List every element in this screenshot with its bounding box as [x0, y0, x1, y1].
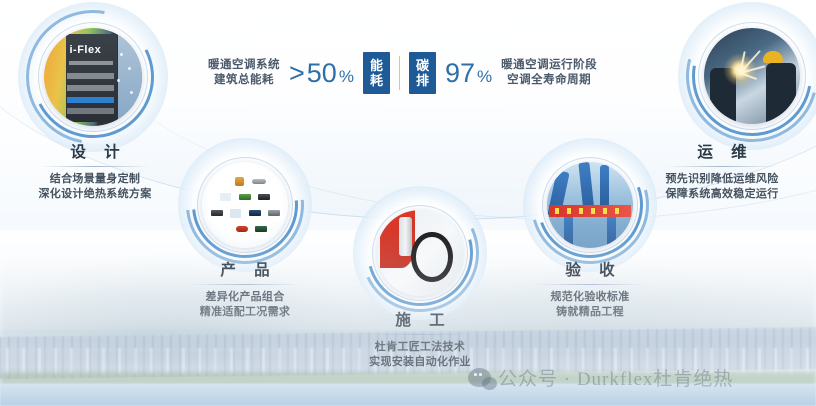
acceptance-desc-line1: 规范化验收标准 [500, 290, 680, 305]
wechat-icon [468, 368, 491, 387]
badge-carbon-char2: 排 [416, 73, 429, 88]
design-title: 设 计 [0, 140, 195, 162]
product-rule [190, 284, 300, 285]
design-desc-line1: 结合场景量身定制 [0, 172, 195, 187]
stat-right-label-line2: 空调全寿命周期 [501, 73, 597, 88]
design-desc-line2: 深化设计绝热系统方案 [0, 187, 195, 202]
operations-photo [704, 28, 800, 124]
stat-left-operator: > [289, 58, 305, 89]
product-photo [202, 162, 288, 248]
operations-title: 运 维 [622, 140, 816, 162]
badge-carbon-emission: 碳 排 [409, 52, 436, 94]
operations-desc-line2: 保障系统高效稳定运行 [622, 187, 816, 202]
acceptance-title: 验 收 [500, 258, 680, 280]
watermark: 公众号 · Durkflex杜肯绝热 [468, 364, 733, 391]
product-label-block: 产 品 差异化产品组合 精准适配工况需求 [155, 258, 335, 320]
design-rule [40, 166, 150, 167]
construction-photo [377, 210, 463, 296]
statistics-bar: 暖通空调系统 建筑总能耗 > 50 % 能 耗 碳 排 97 % 暖通空调运行阶… [208, 52, 597, 94]
badge-energy-consumption: 能 耗 [363, 52, 390, 94]
construction-title: 施 工 [330, 308, 510, 330]
stat-right-percent: % [477, 67, 492, 87]
stat-left-number: 50 [307, 58, 337, 89]
operations-label-block: 运 维 预先识别降低运维风险 保障系统高效稳定运行 [622, 140, 816, 202]
badge-carbon-char1: 碳 [416, 58, 429, 73]
stat-right-label-line1: 暖通空调运行阶段 [501, 58, 597, 73]
stat-left-value: > 50 % [289, 58, 354, 89]
infographic-canvas: 暖通空调系统 建筑总能耗 > 50 % 能 耗 碳 排 97 % 暖通空调运行阶… [0, 0, 816, 406]
stat-right-value: 97 % [445, 58, 492, 89]
acceptance-rule [535, 284, 645, 285]
badge-energy-char2: 耗 [370, 73, 383, 88]
operations-rule [667, 166, 777, 167]
operations-desc-line1: 预先识别降低运维风险 [622, 172, 816, 187]
stat-left-label: 暖通空调系统 建筑总能耗 [208, 58, 280, 88]
design-label-block: 设 计 结合场景量身定制 深化设计绝热系统方案 [0, 140, 195, 202]
acceptance-label-block: 验 收 规范化验收标准 铸就精品工程 [500, 258, 680, 320]
construction-rule [365, 334, 475, 335]
stat-right-number: 97 [445, 58, 475, 89]
stat-left-percent: % [339, 67, 354, 87]
stat-left-label-line2: 建筑总能耗 [208, 73, 280, 88]
design-photo: i-Flex [44, 28, 142, 126]
construction-label-block: 施 工 杜肯工匠工法技术 实现安装自动化作业 [330, 308, 510, 370]
product-title: 产 品 [155, 258, 335, 280]
badge-energy-char1: 能 [370, 58, 383, 73]
construction-desc-line1: 杜肯工匠工法技术 [330, 340, 510, 355]
watermark-text: 公众号 · Durkflex杜肯绝热 [498, 364, 733, 391]
stat-left-label-line1: 暖通空调系统 [208, 58, 280, 73]
badge-separator [399, 56, 400, 90]
stat-right-label: 暖通空调运行阶段 空调全寿命周期 [501, 58, 597, 88]
product-desc-line2: 精准适配工况需求 [155, 305, 335, 320]
design-image-caption: i-Flex [69, 44, 101, 56]
acceptance-photo [547, 162, 633, 248]
acceptance-desc-line2: 铸就精品工程 [500, 305, 680, 320]
product-desc-line1: 差异化产品组合 [155, 290, 335, 305]
